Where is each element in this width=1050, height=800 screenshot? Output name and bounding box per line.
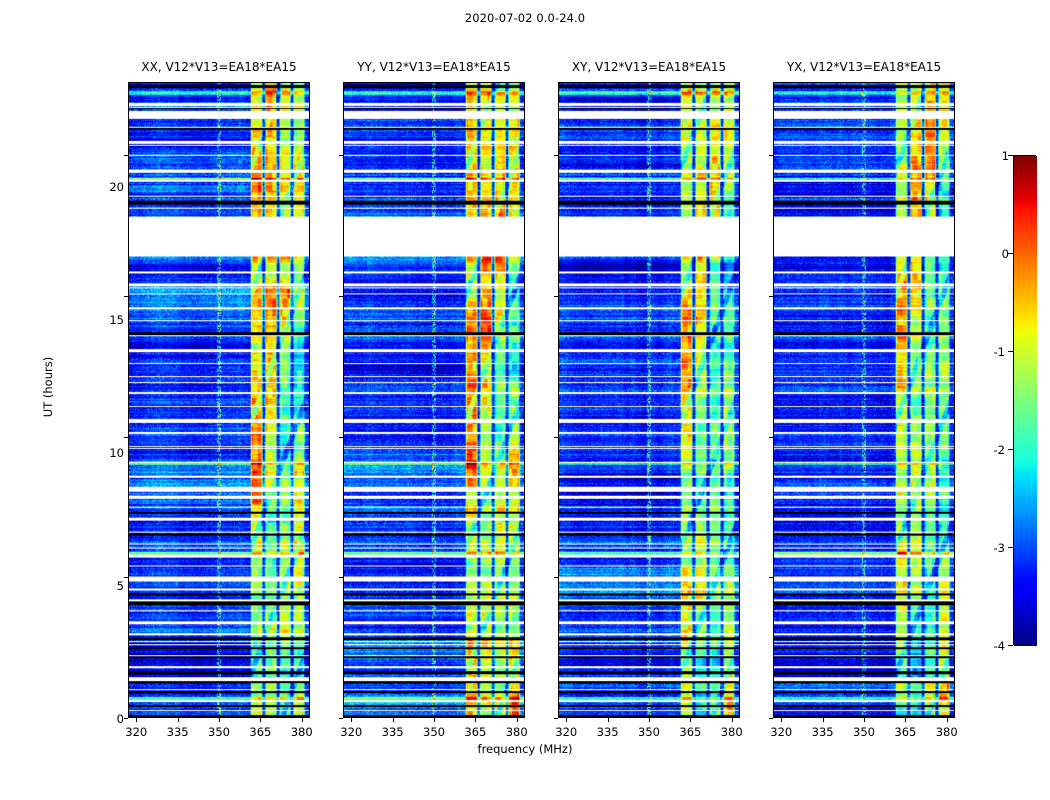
xtick-label: 365 [455,725,495,739]
panel-title-yx: YX, V12*V13=EA18*EA15 [773,60,955,76]
xtick-mark [608,718,609,722]
spectrum-panel-yy[interactable] [343,82,525,718]
xtick-label: 335 [373,725,413,739]
waterfall-image-xy [559,83,739,717]
xtick-mark [302,718,303,722]
xtick-mark [434,718,435,722]
panel-title-yy: YY, V12*V13=EA18*EA15 [343,60,525,76]
xtick-label: 380 [282,725,322,739]
spectrum-panel-xx[interactable] [128,82,310,718]
waterfall-image-yy [344,83,524,717]
colorbar-tick-mark [1008,645,1013,646]
xtick-mark [260,718,261,722]
xtick-mark [393,718,394,722]
spectrum-panel-yx[interactable] [773,82,955,718]
xtick-mark [649,718,650,722]
spectrum-panel-xy[interactable] [558,82,740,718]
xtick-mark [475,718,476,722]
xtick-label: 350 [629,725,669,739]
xtick-label: 350 [414,725,454,739]
ytick-mark [769,718,773,719]
ytick-mark [554,718,558,719]
xtick-label: 365 [240,725,280,739]
xtick-label: 320 [761,725,801,739]
xtick-label: 365 [670,725,710,739]
xtick-label: 380 [497,725,537,739]
xtick-label: 365 [885,725,925,739]
y-axis-label: UT (hours) [41,327,55,447]
ytick-label-0: 0 [98,712,124,726]
colorbar-tick-0: 0 [983,247,1009,261]
x-axis-label: frequency (MHz) [0,742,1050,756]
waterfall-image-yx [774,83,954,717]
ytick-mark [554,296,558,297]
colorbar-tick-m3: -3 [979,541,1005,555]
xtick-mark [864,718,865,722]
ytick-label-10: 10 [98,446,124,460]
colorbar[interactable] [1013,155,1036,645]
colorbar-tick-m1: -1 [979,345,1005,359]
xtick-label: 350 [199,725,239,739]
ytick-mark [339,577,343,578]
ytick-mark [124,296,128,297]
xtick-mark [351,718,352,722]
xtick-label: 335 [803,725,843,739]
ytick-mark [124,718,128,719]
xtick-mark [905,718,906,722]
xtick-mark [732,718,733,722]
ytick-mark [339,155,343,156]
ytick-mark [124,155,128,156]
colorbar-gradient [1014,156,1037,646]
colorbar-tick-m4: -4 [979,639,1005,653]
xtick-label: 380 [927,725,967,739]
xtick-mark [566,718,567,722]
ytick-label-5: 5 [98,579,124,593]
waterfall-image-xx [129,83,309,717]
ytick-mark [339,718,343,719]
ytick-mark [769,155,773,156]
xtick-mark [219,718,220,722]
ytick-mark [554,577,558,578]
panel-title-xy: XY, V12*V13=EA18*EA15 [558,60,740,76]
xtick-mark [178,718,179,722]
xtick-mark [517,718,518,722]
ytick-mark [769,296,773,297]
panel-title-xx: XX, V12*V13=EA18*EA15 [128,60,310,76]
xtick-label: 335 [158,725,198,739]
xtick-label: 320 [116,725,156,739]
xtick-label: 350 [844,725,884,739]
xtick-mark [690,718,691,722]
xtick-label: 380 [712,725,752,739]
figure-suptitle: 2020-07-02 0.0-24.0 [0,11,1050,25]
figure: 2020-07-02 0.0-24.0 XX, V12*V13=EA18*EA1… [0,0,1050,800]
ytick-label-20: 20 [98,180,124,194]
xtick-mark [136,718,137,722]
ytick-mark [124,437,128,438]
ytick-mark [769,577,773,578]
ytick-label-15: 15 [98,313,124,327]
xtick-label: 335 [588,725,628,739]
colorbar-tick-1: 1 [983,149,1009,163]
xtick-label: 320 [546,725,586,739]
ytick-mark [339,296,343,297]
xtick-mark [823,718,824,722]
ytick-mark [124,577,128,578]
xtick-label: 320 [331,725,371,739]
xtick-mark [781,718,782,722]
ytick-mark [554,437,558,438]
colorbar-tick-m2: -2 [979,443,1005,457]
ytick-mark [769,437,773,438]
ytick-mark [554,155,558,156]
xtick-mark [947,718,948,722]
ytick-mark [339,437,343,438]
